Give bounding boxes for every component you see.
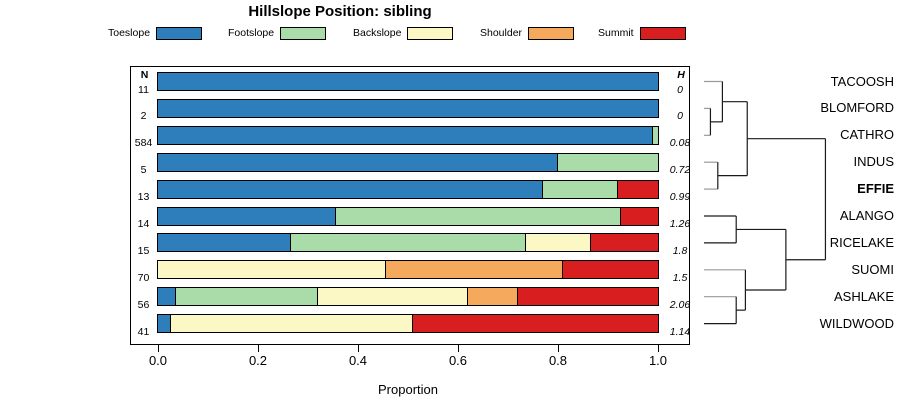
plot-bottom-border — [130, 344, 690, 345]
x-tick — [458, 345, 459, 352]
n-value: 584 — [129, 137, 158, 149]
bar-segment-footslope — [542, 180, 619, 199]
n-value: 11 — [129, 84, 158, 96]
legend-swatch — [528, 27, 574, 40]
x-tick-label: 0.8 — [535, 353, 581, 368]
bar-segment-toeslope — [157, 99, 659, 118]
bar-segment-backslope — [170, 314, 414, 333]
bar-segment-backslope — [157, 260, 386, 279]
chart-root: Hillslope Position: sibling ToeslopeFoot… — [0, 0, 900, 420]
x-tick — [658, 345, 659, 352]
n-value: 14 — [129, 218, 158, 230]
legend-swatch — [156, 27, 202, 40]
bar-segment-shoulder — [467, 287, 519, 306]
legend-label: Footslope — [228, 27, 274, 39]
legend: ToeslopeFootslopeBackslopeShoulderSummit — [108, 24, 688, 42]
x-tick-label: 1.0 — [635, 353, 681, 368]
bar-segment-footslope — [175, 287, 319, 306]
x-tick-label: 0.6 — [435, 353, 481, 368]
bar-segment-summit — [562, 260, 659, 279]
n-value: 5 — [129, 164, 158, 176]
n-value: 13 — [129, 191, 158, 203]
bar-segment-summit — [412, 314, 659, 333]
legend-swatch — [640, 27, 686, 40]
dendrogram — [690, 60, 900, 360]
bar-segment-summit — [617, 180, 659, 199]
bar-segment-footslope — [335, 207, 622, 226]
legend-label: Shoulder — [480, 27, 522, 39]
x-tick — [158, 345, 159, 352]
bar-segment-toeslope — [157, 126, 654, 145]
n-value: 56 — [129, 299, 158, 311]
legend-label: Toeslope — [108, 27, 150, 39]
n-column-header: N — [131, 69, 158, 81]
bar-segment-toeslope — [157, 180, 544, 199]
stacked-bar-wildwood — [158, 314, 658, 333]
bar-segment-shoulder — [385, 260, 564, 279]
x-tick-label: 0.2 — [235, 353, 281, 368]
n-value: 41 — [129, 326, 158, 338]
stacked-bar-blomford — [158, 99, 658, 118]
stacked-bar-ricelake — [158, 233, 658, 252]
bar-segment-footslope — [557, 153, 659, 172]
x-tick — [258, 345, 259, 352]
bar-segment-backslope — [525, 233, 592, 252]
bar-segment-toeslope — [157, 153, 559, 172]
stacked-bar-effie — [158, 180, 658, 199]
legend-item-shoulder: Shoulder — [480, 24, 574, 42]
legend-label: Summit — [598, 27, 634, 39]
legend-swatch — [407, 27, 453, 40]
bar-segment-summit — [517, 287, 659, 306]
legend-item-footslope: Footslope — [228, 24, 326, 42]
stacked-bar-cathro — [158, 126, 658, 145]
n-value: 2 — [129, 110, 158, 122]
n-value: 70 — [129, 272, 158, 284]
bar-segment-backslope — [317, 287, 469, 306]
bar-segment-footslope — [290, 233, 527, 252]
x-tick — [558, 345, 559, 352]
stacked-bar-indus — [158, 153, 658, 172]
x-tick-label: 0.0 — [135, 353, 181, 368]
bar-segment-toeslope — [157, 207, 336, 226]
legend-item-toeslope: Toeslope — [108, 24, 202, 42]
x-axis-title: Proportion — [158, 382, 658, 397]
n-value: 15 — [129, 245, 158, 257]
bar-segment-toeslope — [157, 233, 291, 252]
bar-segment-footslope — [652, 126, 659, 145]
legend-label: Backslope — [353, 27, 401, 39]
stacked-bar-ashlake — [158, 287, 658, 306]
stacked-bar-tacoosh — [158, 72, 658, 91]
bar-segment-toeslope — [157, 72, 659, 91]
stacked-bar-alango — [158, 207, 658, 226]
bar-segment-summit — [620, 207, 659, 226]
page-title: Hillslope Position: sibling — [0, 3, 680, 20]
legend-item-backslope: Backslope — [353, 24, 453, 42]
x-tick — [358, 345, 359, 352]
bar-segment-toeslope — [157, 287, 176, 306]
bar-segment-summit — [590, 233, 659, 252]
legend-item-summit: Summit — [598, 24, 686, 42]
x-tick-label: 0.4 — [335, 353, 381, 368]
legend-swatch — [280, 27, 326, 40]
stacked-bar-suomi — [158, 260, 658, 279]
